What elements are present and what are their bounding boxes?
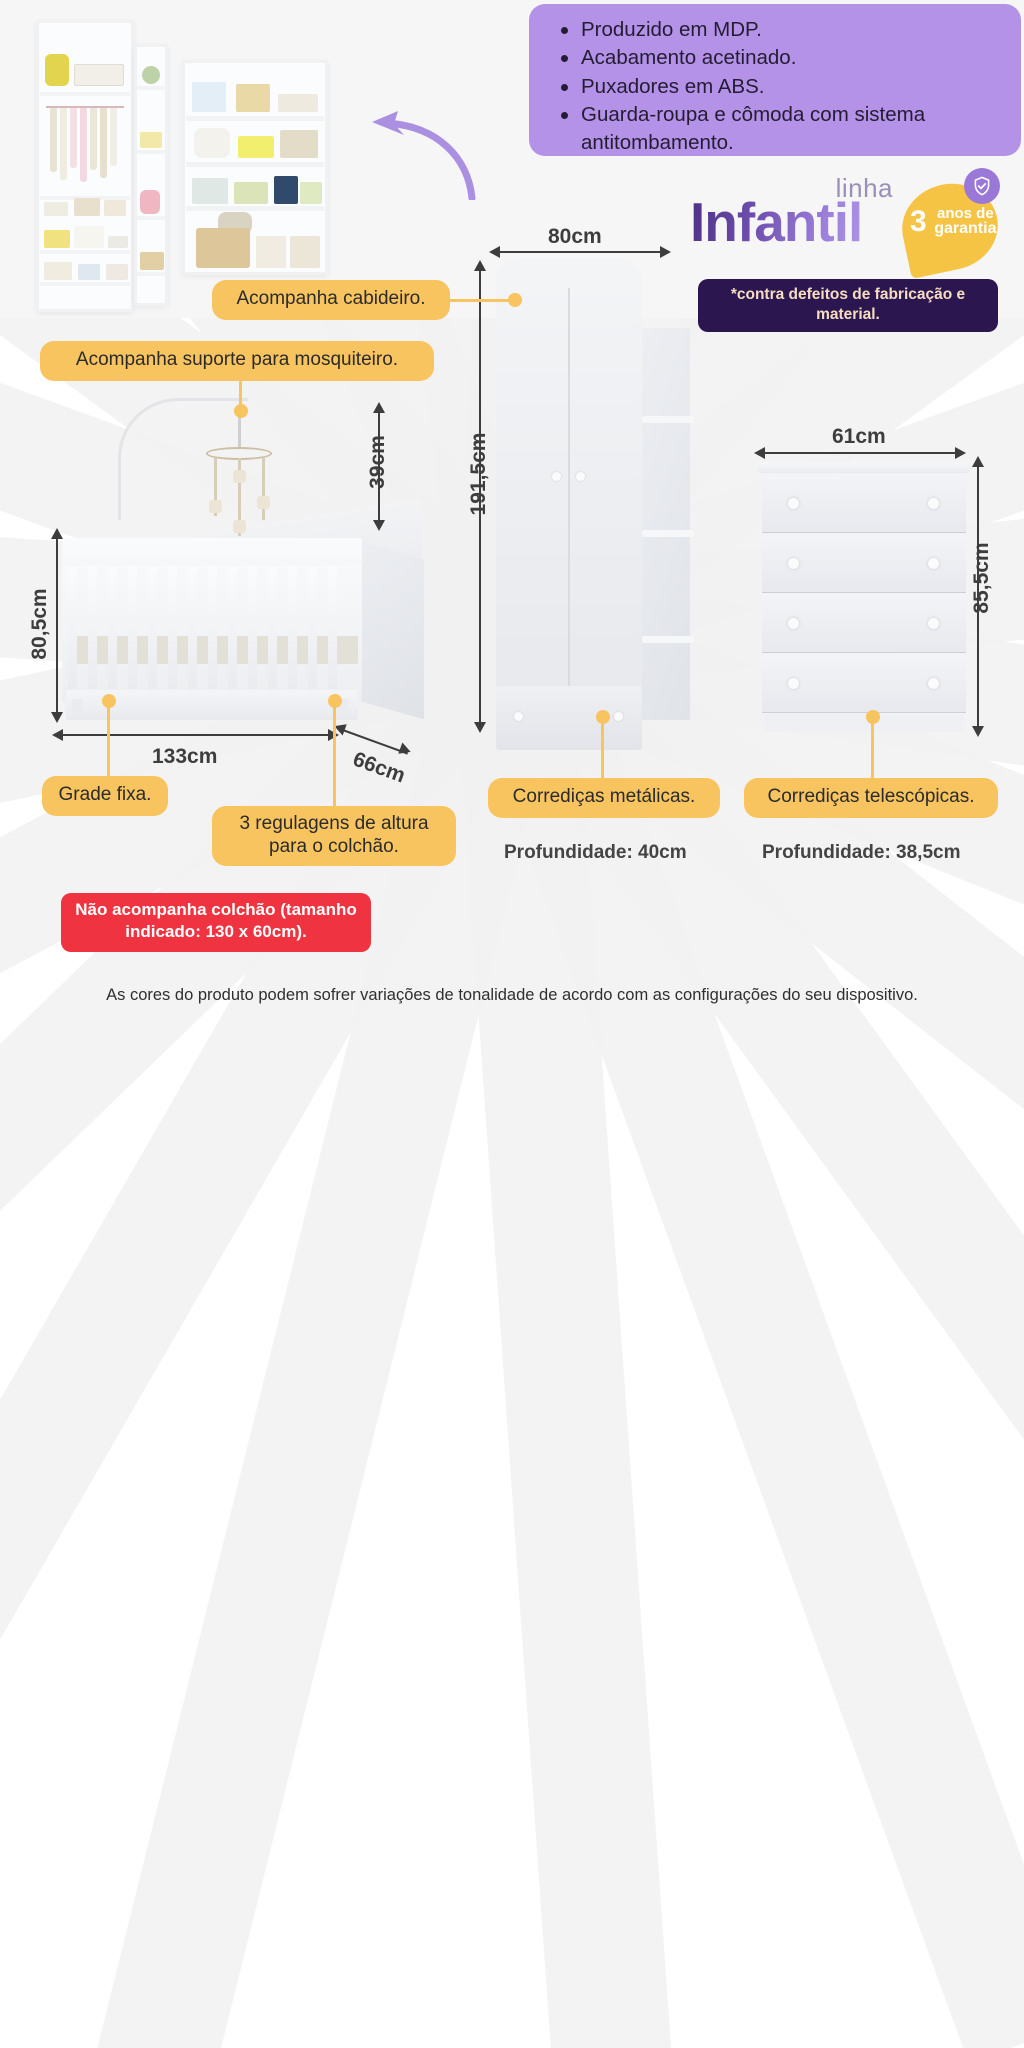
crib-slats bbox=[68, 564, 358, 689]
dresser-drawer-knob bbox=[788, 558, 799, 569]
wardrobe-drawer-knob bbox=[614, 712, 623, 721]
crib-foot bbox=[72, 699, 82, 713]
guarantee-badge: 3 anos de garantia bbox=[900, 168, 1006, 274]
callout-grade-fixa[interactable]: Grade fixa. bbox=[42, 776, 168, 816]
photo-hanging-garment bbox=[110, 108, 117, 166]
wardrobe-depth-caption: Profundidade: 40cm bbox=[504, 842, 687, 864]
dresser-interior-photo bbox=[182, 60, 328, 275]
purple-arrow-icon bbox=[360, 110, 490, 200]
photo-shoes bbox=[108, 236, 128, 248]
dim-arrow-right bbox=[955, 447, 966, 459]
crib-slat bbox=[188, 564, 197, 689]
dim-arrow-left bbox=[489, 246, 500, 258]
color-disclaimer: As cores do produto podem sofrer variaçõ… bbox=[0, 986, 1024, 1005]
photo-folded-linen bbox=[234, 182, 268, 204]
dim-arrow-up bbox=[474, 260, 486, 271]
photo-folded-linen bbox=[278, 94, 318, 112]
dim-dresser-width-label: 61cm bbox=[832, 425, 886, 449]
callout-dot-metalicas bbox=[596, 710, 610, 724]
photo-shelf bbox=[137, 150, 165, 154]
photo-hanging-garment bbox=[60, 108, 67, 180]
photo-folded-linen bbox=[192, 178, 228, 204]
dim-arrow-up bbox=[972, 456, 984, 467]
wardrobe-door-knob bbox=[576, 472, 585, 481]
dresser-drawer-knob bbox=[928, 618, 939, 629]
crib-slat bbox=[328, 564, 337, 689]
photo-plush-toy bbox=[140, 190, 160, 214]
wardrobe-drawer-knob bbox=[514, 712, 523, 721]
callout-dot-grade bbox=[102, 694, 116, 708]
photo-basket bbox=[196, 228, 250, 268]
mobile-charm bbox=[257, 496, 270, 509]
dresser-drawer-knob bbox=[788, 678, 799, 689]
crib-slat bbox=[228, 564, 237, 689]
photo-hanging-garment bbox=[100, 108, 107, 178]
photo-bottles bbox=[192, 82, 226, 112]
photo-bottles bbox=[78, 264, 100, 280]
dim-wardrobe-width-line bbox=[497, 251, 667, 253]
dim-arrow-up bbox=[373, 402, 385, 413]
mattress-disclaimer-banner: Não acompanha colchão (tamanho indicado:… bbox=[61, 893, 371, 952]
dresser-depth-caption: Profundidade: 38,5cm bbox=[762, 842, 961, 864]
photo-basket bbox=[236, 84, 270, 112]
crib-illustration bbox=[62, 520, 422, 732]
photo-folded-linen bbox=[74, 198, 100, 216]
photo-shelf bbox=[137, 86, 165, 90]
dim-crib-width-line bbox=[60, 734, 336, 736]
dim-crib-height-line bbox=[56, 536, 58, 714]
crib-slat bbox=[88, 564, 97, 689]
wardrobe-bottom-drawer bbox=[496, 686, 642, 750]
dresser-base bbox=[764, 714, 964, 732]
dresser-illustration bbox=[758, 462, 970, 736]
callout-leader-telescopicas bbox=[871, 716, 874, 778]
dim-wardrobe-height-label: 191,5cm bbox=[467, 404, 491, 544]
photo-shelf bbox=[40, 92, 130, 96]
callout-leader-metalicas bbox=[601, 716, 604, 778]
callout-cabideiro[interactable]: Acompanha cabideiro. bbox=[212, 280, 450, 320]
photo-storage-box bbox=[238, 136, 274, 158]
crib-top-rail bbox=[62, 556, 362, 566]
crib-slat bbox=[68, 564, 77, 689]
photo-storage-box bbox=[44, 230, 70, 248]
dim-crib-width-label: 133cm bbox=[152, 745, 217, 769]
callout-dot-mosquiteiro bbox=[234, 404, 248, 418]
crib-slat bbox=[108, 564, 117, 689]
crib-slat bbox=[308, 564, 317, 689]
photo-folded-linen bbox=[44, 262, 72, 280]
photo-plush bbox=[106, 264, 128, 280]
dim-arrow-down bbox=[373, 520, 385, 531]
photo-folded-linen bbox=[256, 236, 286, 268]
features-panel: Produzido em MDP. Acabamento acetinado. … bbox=[529, 4, 1021, 156]
photo-pillow bbox=[74, 226, 104, 248]
dim-crib-height-label: 80,5cm bbox=[28, 581, 52, 667]
photo-toiletries bbox=[140, 132, 162, 148]
brand-lockup: linha Infantil bbox=[690, 176, 915, 248]
shield-check-icon bbox=[964, 168, 1000, 204]
dim-arrow-left bbox=[754, 447, 765, 459]
crib-slat bbox=[128, 564, 137, 689]
photo-hanging-garment bbox=[90, 108, 97, 170]
callout-regulagens[interactable]: 3 regulagens de altura para o colchão. bbox=[212, 806, 456, 866]
callout-corredicas-metalicas[interactable]: Corrediças metálicas. bbox=[488, 778, 720, 818]
features-list: Produzido em MDP. Acabamento acetinado. … bbox=[559, 16, 1003, 156]
dim-arrow-down bbox=[51, 712, 63, 723]
dim-arrow-down bbox=[474, 722, 486, 733]
photo-plush-toy bbox=[194, 128, 230, 158]
wardrobe-door-knob bbox=[552, 472, 561, 481]
dim-wardrobe-width-label: 80cm bbox=[548, 225, 602, 249]
wardrobe-side-tower bbox=[642, 328, 690, 720]
dresser-drawer bbox=[762, 474, 966, 533]
photo-folded-linen bbox=[104, 200, 126, 216]
photo-shelf bbox=[186, 162, 324, 167]
dresser-drawer-knob bbox=[928, 678, 939, 689]
photo-plant bbox=[142, 66, 160, 84]
badge-number: 3 bbox=[910, 207, 927, 237]
photo-basket bbox=[140, 252, 164, 270]
crib-side-panel bbox=[358, 541, 424, 720]
photo-folded-linen bbox=[280, 130, 318, 158]
wardrobe-door-split bbox=[568, 288, 570, 688]
callout-dot-telescopicas bbox=[866, 710, 880, 724]
wardrobe-body bbox=[496, 272, 642, 736]
wardrobe-shelf bbox=[642, 416, 694, 423]
feature-item: Puxadores em ABS. bbox=[559, 73, 1003, 100]
infographic-canvas: Produzido em MDP. Acabamento acetinado. … bbox=[0, 0, 1024, 1024]
dresser-top bbox=[758, 462, 970, 473]
callout-corredicas-telescopicas[interactable]: Corrediças telescópicas. bbox=[744, 778, 998, 818]
callout-dot-regulagens bbox=[328, 694, 342, 708]
dim-net-height-label: 39cm bbox=[366, 430, 390, 494]
callout-mosquiteiro[interactable]: Acompanha suporte para mosquiteiro. bbox=[40, 341, 434, 381]
dresser-drawer bbox=[762, 654, 966, 713]
photo-folded-linen bbox=[290, 236, 320, 268]
crib-slat bbox=[208, 564, 217, 689]
dresser-drawer bbox=[762, 594, 966, 653]
feature-item: Produzido em MDP. bbox=[559, 16, 1003, 43]
mobile-charm bbox=[233, 520, 246, 533]
callout-leader-regulagens bbox=[333, 700, 336, 806]
crib-slat bbox=[248, 564, 257, 689]
feature-item: Guarda-roupa e cômoda com sistema antito… bbox=[559, 101, 1003, 156]
photo-hanging-garment bbox=[70, 108, 77, 168]
mobile-charm bbox=[233, 470, 246, 483]
dresser-drawer-knob bbox=[928, 498, 939, 509]
crib-slat bbox=[168, 564, 177, 689]
dresser-drawer-knob bbox=[788, 498, 799, 509]
dim-dresser-width-line bbox=[762, 452, 962, 454]
warranty-footnote: *contra defeitos de fabricação e materia… bbox=[698, 279, 998, 332]
mobile-charm-string bbox=[262, 458, 265, 520]
photo-shelf bbox=[186, 206, 324, 211]
photo-shelf bbox=[137, 272, 165, 276]
dim-dresser-height-label: 85,5cm bbox=[970, 528, 994, 628]
callout-leader-grade bbox=[107, 700, 110, 776]
dim-arrow-right bbox=[660, 246, 671, 258]
dim-arrow-down bbox=[972, 726, 984, 737]
wardrobe-shelf bbox=[642, 636, 694, 643]
photo-folded-linen bbox=[74, 64, 124, 86]
crib-slat bbox=[268, 564, 277, 689]
crib-slat bbox=[288, 564, 297, 689]
photo-shelf bbox=[40, 282, 130, 286]
photo-folded-linen bbox=[300, 182, 322, 204]
brand-name: Infantil bbox=[690, 190, 862, 254]
photo-folded-linen bbox=[274, 176, 298, 204]
crib-slat bbox=[148, 564, 157, 689]
dim-arrow-up bbox=[51, 528, 63, 539]
photo-hanging-garment bbox=[80, 108, 87, 182]
photo-shelf bbox=[186, 116, 324, 121]
wardrobe-shelf bbox=[642, 530, 694, 537]
wardrobe-interior-photo bbox=[36, 14, 168, 314]
badge-text: 3 anos de garantia bbox=[904, 206, 1002, 237]
mobile-charm bbox=[209, 500, 222, 513]
feature-item: Acabamento acetinado. bbox=[559, 44, 1003, 71]
callout-leader-cabideiro bbox=[448, 299, 516, 302]
photo-shelf bbox=[137, 216, 165, 220]
dresser-drawer-knob bbox=[928, 558, 939, 569]
photo-folded-linen bbox=[44, 202, 68, 216]
wardrobe-illustration bbox=[496, 258, 696, 736]
photo-toy bbox=[45, 54, 69, 86]
dim-arrow-left bbox=[52, 729, 63, 741]
callout-dot-cabideiro bbox=[508, 293, 522, 307]
dresser-drawer bbox=[762, 534, 966, 593]
photo-shelf bbox=[40, 250, 130, 254]
dresser-drawer-knob bbox=[788, 618, 799, 629]
photo-hanging-garment bbox=[50, 108, 57, 172]
crib-front-panel bbox=[62, 538, 362, 703]
